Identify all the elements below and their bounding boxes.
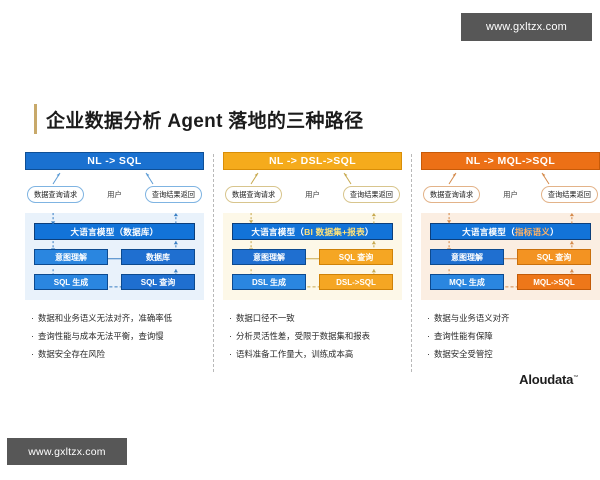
column-divider-1 <box>213 154 214 372</box>
column-1-row-bottom: SQL 生成 SQL 查询 <box>34 274 195 290</box>
column-2-engine-panel: 大语言模型（BI 数据集+报表） 意图理解 SQL 查询 DSL 生成 DSL-… <box>223 213 402 300</box>
column-3-row-bottom: MQL 生成 MQL->SQL <box>430 274 591 290</box>
column-2-gen-box: DSL 生成 <box>232 274 306 290</box>
column-2-llm-tail: ） <box>365 226 374 238</box>
arrow-request-up-1 <box>49 172 63 186</box>
arrow-response-up-3 <box>539 172 553 186</box>
column-3-banner: NL -> MQL->SQL <box>421 152 600 170</box>
bullet-dot-icon: · <box>427 331 434 342</box>
column-2-bullets: ·数据口径不一致 ·分析灵活性差，受限于数据集和报表 ·语料准备工作量大，训练成… <box>223 313 402 360</box>
page-title: 企业数据分析 Agent 落地的三种路径 <box>34 104 363 134</box>
bullet-dot-icon: · <box>427 349 434 360</box>
bullet-text: 语料准备工作量大，训练成本高 <box>236 349 353 360</box>
watermark-top-right: www.gxltzx.com <box>461 13 592 41</box>
column-2-llm-box: 大语言模型（BI 数据集+报表） <box>232 223 393 240</box>
brand-logo-text: Aloudata <box>519 372 573 387</box>
column-1-llm-label: 大语言模型（数据库） <box>71 226 159 238</box>
column-2-intent-box: 意图理解 <box>232 249 306 265</box>
column-3-bullets: ·数据与业务语义对齐 ·查询性能有保障 ·数据安全受管控 <box>421 313 600 360</box>
column-3-query-box: SQL 查询 <box>517 249 591 265</box>
bullet-text: 数据与业务语义对齐 <box>434 313 509 324</box>
column-1-banner: NL -> SQL <box>25 152 204 170</box>
list-item: ·数据口径不一致 <box>229 313 402 324</box>
list-item: ·数据和业务语义无法对齐，准确率低 <box>31 313 204 324</box>
list-item: ·查询性能有保障 <box>427 331 600 342</box>
column-2-request-pill: 数据查询请求 <box>225 186 282 203</box>
path-column-3: NL -> MQL->SQL 数据查询请求 用户 查询结果返回 <box>421 152 600 382</box>
column-1-intent-box: 意图理解 <box>34 249 108 265</box>
bullet-dot-icon: · <box>427 313 434 324</box>
column-3-llm-box: 大语言模型（指标语义） <box>430 223 591 240</box>
bullet-text: 数据口径不一致 <box>236 313 295 324</box>
column-2-user-row: 数据查询请求 用户 查询结果返回 <box>223 186 402 203</box>
column-3-llm-tail: ） <box>550 226 559 238</box>
arrow-request-up-2 <box>247 172 261 186</box>
column-3-llm-label: 大语言模型（ <box>462 226 515 238</box>
column-1-db-box: 数据库 <box>121 249 195 265</box>
columns-container: NL -> SQL 数据查询请求 用户 查询结果返回 <box>0 152 600 382</box>
column-2-translate-box: DSL->SQL <box>319 274 393 290</box>
bullet-text: 数据和业务语义无法对齐，准确率低 <box>38 313 172 324</box>
column-1-request-pill: 数据查询请求 <box>27 186 84 203</box>
slide-canvas: www.gxltzx.com www.gxltzx.com 企业数据分析 Age… <box>0 0 600 480</box>
column-3-engine-panel: 大语言模型（指标语义） 意图理解 SQL 查询 MQL 生成 MQL->SQL <box>421 213 600 300</box>
list-item: ·查询性能与成本无法平衡，查询慢 <box>31 331 204 342</box>
trademark-symbol: ™ <box>573 375 578 381</box>
column-3-gen-box: MQL 生成 <box>430 274 504 290</box>
column-3-request-pill: 数据查询请求 <box>423 186 480 203</box>
arrow-response-up-2 <box>341 172 355 186</box>
column-1-gen-box: SQL 生成 <box>34 274 108 290</box>
column-2-user-label: 用户 <box>305 190 319 200</box>
column-2-llm-label: 大语言模型（ <box>251 226 304 238</box>
column-3-response-pill: 查询结果返回 <box>541 186 598 203</box>
arrow-response-up-1 <box>143 172 157 186</box>
watermark-bottom-left: www.gxltzx.com <box>7 438 127 465</box>
column-3-intent-box: 意图理解 <box>430 249 504 265</box>
column-2-row-bottom: DSL 生成 DSL->SQL <box>232 274 393 290</box>
brand-logo: Aloudata™ <box>519 372 578 387</box>
column-2-llm-highlight: BI 数据集+报表 <box>304 226 365 238</box>
bullet-dot-icon: · <box>229 349 236 360</box>
column-1-bullets: ·数据和业务语义无法对齐，准确率低 ·查询性能与成本无法平衡，查询慢 ·数据安全… <box>25 313 204 360</box>
title-accent-bar <box>34 104 37 134</box>
bullet-dot-icon: · <box>31 349 38 360</box>
column-divider-2 <box>411 154 412 372</box>
column-3-row-mid: 意图理解 SQL 查询 <box>430 249 591 265</box>
list-item: ·分析灵活性差，受限于数据集和报表 <box>229 331 402 342</box>
arrow-request-up-3 <box>445 172 459 186</box>
column-1-row-mid: 意图理解 数据库 <box>34 249 195 265</box>
column-1-llm-box: 大语言模型（数据库） <box>34 223 195 240</box>
column-2-banner: NL -> DSL->SQL <box>223 152 402 170</box>
list-item: ·语料准备工作量大，训练成本高 <box>229 349 402 360</box>
column-1-query-box: SQL 查询 <box>121 274 195 290</box>
column-3-user-label: 用户 <box>503 190 517 200</box>
column-2-row-mid: 意图理解 SQL 查询 <box>232 249 393 265</box>
bullet-text: 数据安全存在风险 <box>38 349 105 360</box>
column-2-response-pill: 查询结果返回 <box>343 186 400 203</box>
bullet-dot-icon: · <box>229 313 236 324</box>
list-item: ·数据与业务语义对齐 <box>427 313 600 324</box>
path-column-1: NL -> SQL 数据查询请求 用户 查询结果返回 <box>25 152 204 382</box>
list-item: ·数据安全受管控 <box>427 349 600 360</box>
column-3-user-row: 数据查询请求 用户 查询结果返回 <box>421 186 600 203</box>
column-1-response-pill: 查询结果返回 <box>145 186 202 203</box>
column-1-user-row: 数据查询请求 用户 查询结果返回 <box>25 186 204 203</box>
column-3-llm-highlight: 指标语义 <box>515 226 550 238</box>
title-text: 企业数据分析 Agent 落地的三种路径 <box>46 106 363 133</box>
bullet-dot-icon: · <box>31 313 38 324</box>
bullet-text: 查询性能有保障 <box>434 331 493 342</box>
bullet-text: 数据安全受管控 <box>434 349 493 360</box>
column-1-user-label: 用户 <box>107 190 121 200</box>
bullet-dot-icon: · <box>229 331 236 342</box>
bullet-text: 查询性能与成本无法平衡，查询慢 <box>38 331 164 342</box>
bullet-text: 分析灵活性差，受限于数据集和报表 <box>236 331 370 342</box>
list-item: ·数据安全存在风险 <box>31 349 204 360</box>
column-1-engine-panel: 大语言模型（数据库） 意图理解 数据库 SQL 生成 SQL 查询 <box>25 213 204 300</box>
column-2-query-box: SQL 查询 <box>319 249 393 265</box>
column-3-translate-box: MQL->SQL <box>517 274 591 290</box>
path-column-2: NL -> DSL->SQL 数据查询请求 用户 查询结果返回 <box>223 152 402 382</box>
bullet-dot-icon: · <box>31 331 38 342</box>
